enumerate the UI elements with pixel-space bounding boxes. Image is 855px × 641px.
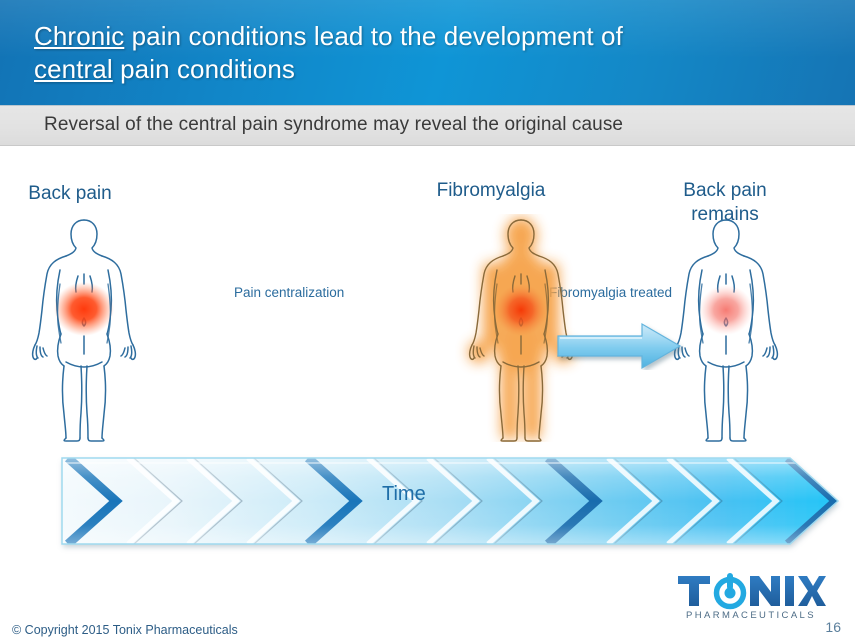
pain-region <box>699 285 753 335</box>
treatment-arrow-icon <box>556 322 684 370</box>
body-figure-back-pain <box>18 214 150 442</box>
page-number: 16 <box>825 619 841 635</box>
figure-label-back-pain: Back pain <box>0 182 140 206</box>
tonix-logo: PHARMACEUTICALS <box>676 572 826 630</box>
title-line1-rest: pain conditions lead to the development … <box>124 21 623 51</box>
slide-body: Back pain Fibromyalgia Back pain remains… <box>0 146 855 567</box>
page-title: Chronic pain conditions lead to the deve… <box>34 20 774 86</box>
pain-region <box>495 284 547 336</box>
slide-footer: © Copyright 2015 Tonix Pharmaceuticals 1… <box>0 567 855 641</box>
copyright-text: © Copyright 2015 Tonix Pharmaceuticals <box>12 623 238 637</box>
annotation-pain-centralization: Pain centralization <box>234 285 344 300</box>
tonix-wordmark-icon <box>676 572 826 610</box>
logo-tagline: PHARMACEUTICALS <box>676 610 826 621</box>
subtitle-bar: Reversal of the central pain syndrome ma… <box>0 105 855 146</box>
timeline-label: Time <box>382 483 426 506</box>
slide-header: Chronic pain conditions lead to the deve… <box>0 0 855 105</box>
title-line2-rest: pain conditions <box>113 54 295 84</box>
timeline-chevrons <box>0 458 855 544</box>
timeline-arrow <box>0 446 855 556</box>
subtitle-text: Reversal of the central pain syndrome ma… <box>44 114 623 136</box>
figure-label-fibromyalgia: Fibromyalgia <box>406 179 576 203</box>
pain-region <box>54 282 114 336</box>
title-keyword-central: central <box>34 54 113 84</box>
title-keyword-chronic: Chronic <box>34 21 124 51</box>
body-outline-icon <box>18 214 150 442</box>
